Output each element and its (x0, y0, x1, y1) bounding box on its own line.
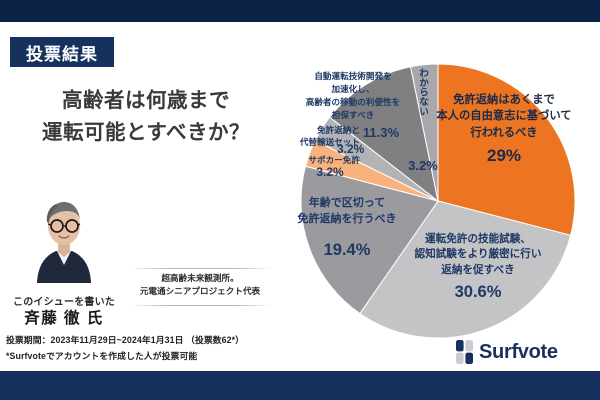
slice-label-1-line2: 本人の自由意志に基づいて (424, 108, 584, 124)
author-affiliation-line1: 超高齢未来観測所。 (125, 272, 275, 285)
slice-label-2-line1: 運転免許の技能試験、 (395, 232, 561, 247)
slice-label-7: わからない (414, 68, 428, 116)
author-affiliation: 超高齢未来観測所。 元電通シニアプロジェクト代表 (125, 272, 275, 299)
poll-note-text: *Surfvoteでアカウントを作成した人が投票可能 (6, 349, 197, 362)
author-name: 斉藤 徹 氏 (6, 306, 122, 328)
slice-label-6-line4: 担保すべき (292, 109, 414, 122)
slice-label-6: 自動運転技術開発を 加速化し、 高齢者の移動の利便性を 担保すべき (292, 70, 414, 122)
slice-label-1-line1: 免許返納はあくまで (424, 92, 584, 108)
slice-label-2: 運転免許の技能試験、 認知試験をより厳密に行い 返納を促すべき (395, 232, 561, 278)
slice-percent-1: 29% (424, 145, 584, 167)
slice-percent-6: 11.3% (355, 125, 407, 142)
surfvote-logo: Surfvote (456, 340, 558, 364)
page-title-line1: 高齢者は何歳まで (62, 89, 230, 112)
top-navy-bar (0, 0, 600, 22)
author-affiliation-line2: 元電通シニアプロジェクト代表 (125, 285, 275, 298)
slice-label-2-line2: 認知試験をより厳密に行い (395, 247, 561, 262)
poll-period-text: 投票期間：2023年11月29日~2024年1月31日 （投票数62*） (6, 333, 244, 346)
poll-result-badge-label: 投票結果 (26, 40, 98, 65)
slice-label-1-line3: 行われるべき (424, 125, 584, 141)
slice-percent-3: 19.4% (282, 240, 412, 261)
slice-label-3-line1: 年齢で区切って (282, 196, 412, 212)
bottom-navy-bar (0, 371, 600, 400)
poll-result-badge: 投票結果 (10, 37, 114, 67)
affiliation-divider-bottom (130, 305, 272, 306)
page-title-line2: 運転可能とすべきか？ (16, 117, 276, 149)
slice-percent-4: 3.2% (300, 165, 360, 180)
slice-percent-7: 3.2% (402, 158, 444, 175)
poll-result-infographic: 投票結果 高齢者は何歳まで 運転可能とすべきか？ (0, 0, 600, 400)
slice-label-1: 免許返納はあくまで 本人の自由意志に基づいて 行われるべき (424, 92, 584, 141)
slice-label-6-line3: 高齢者の移動の利便性を (292, 96, 414, 109)
slice-label-2-line3: 返納を促すべき (395, 263, 561, 278)
affiliation-divider-top (130, 268, 272, 269)
surfvote-quadrant-logo-icon (456, 340, 473, 364)
surfvote-logo-text: Surfvote (479, 341, 558, 364)
slice-label-5-line1: 免許返納と (258, 124, 360, 136)
slice-label-3: 年齢で区切って 免許返納を行うべき (282, 196, 412, 228)
slice-label-3-line2: 免許返納を行うべき (282, 212, 412, 228)
slice-label-6-line1: 自動運転技術開発を (292, 70, 414, 83)
slice-percent-2: 30.6% (395, 282, 561, 303)
author-portrait (33, 193, 95, 283)
slice-label-6-line2: 加速化し、 (292, 83, 414, 96)
page-title: 高齢者は何歳まで 運転可能とすべきか？ (16, 85, 276, 149)
